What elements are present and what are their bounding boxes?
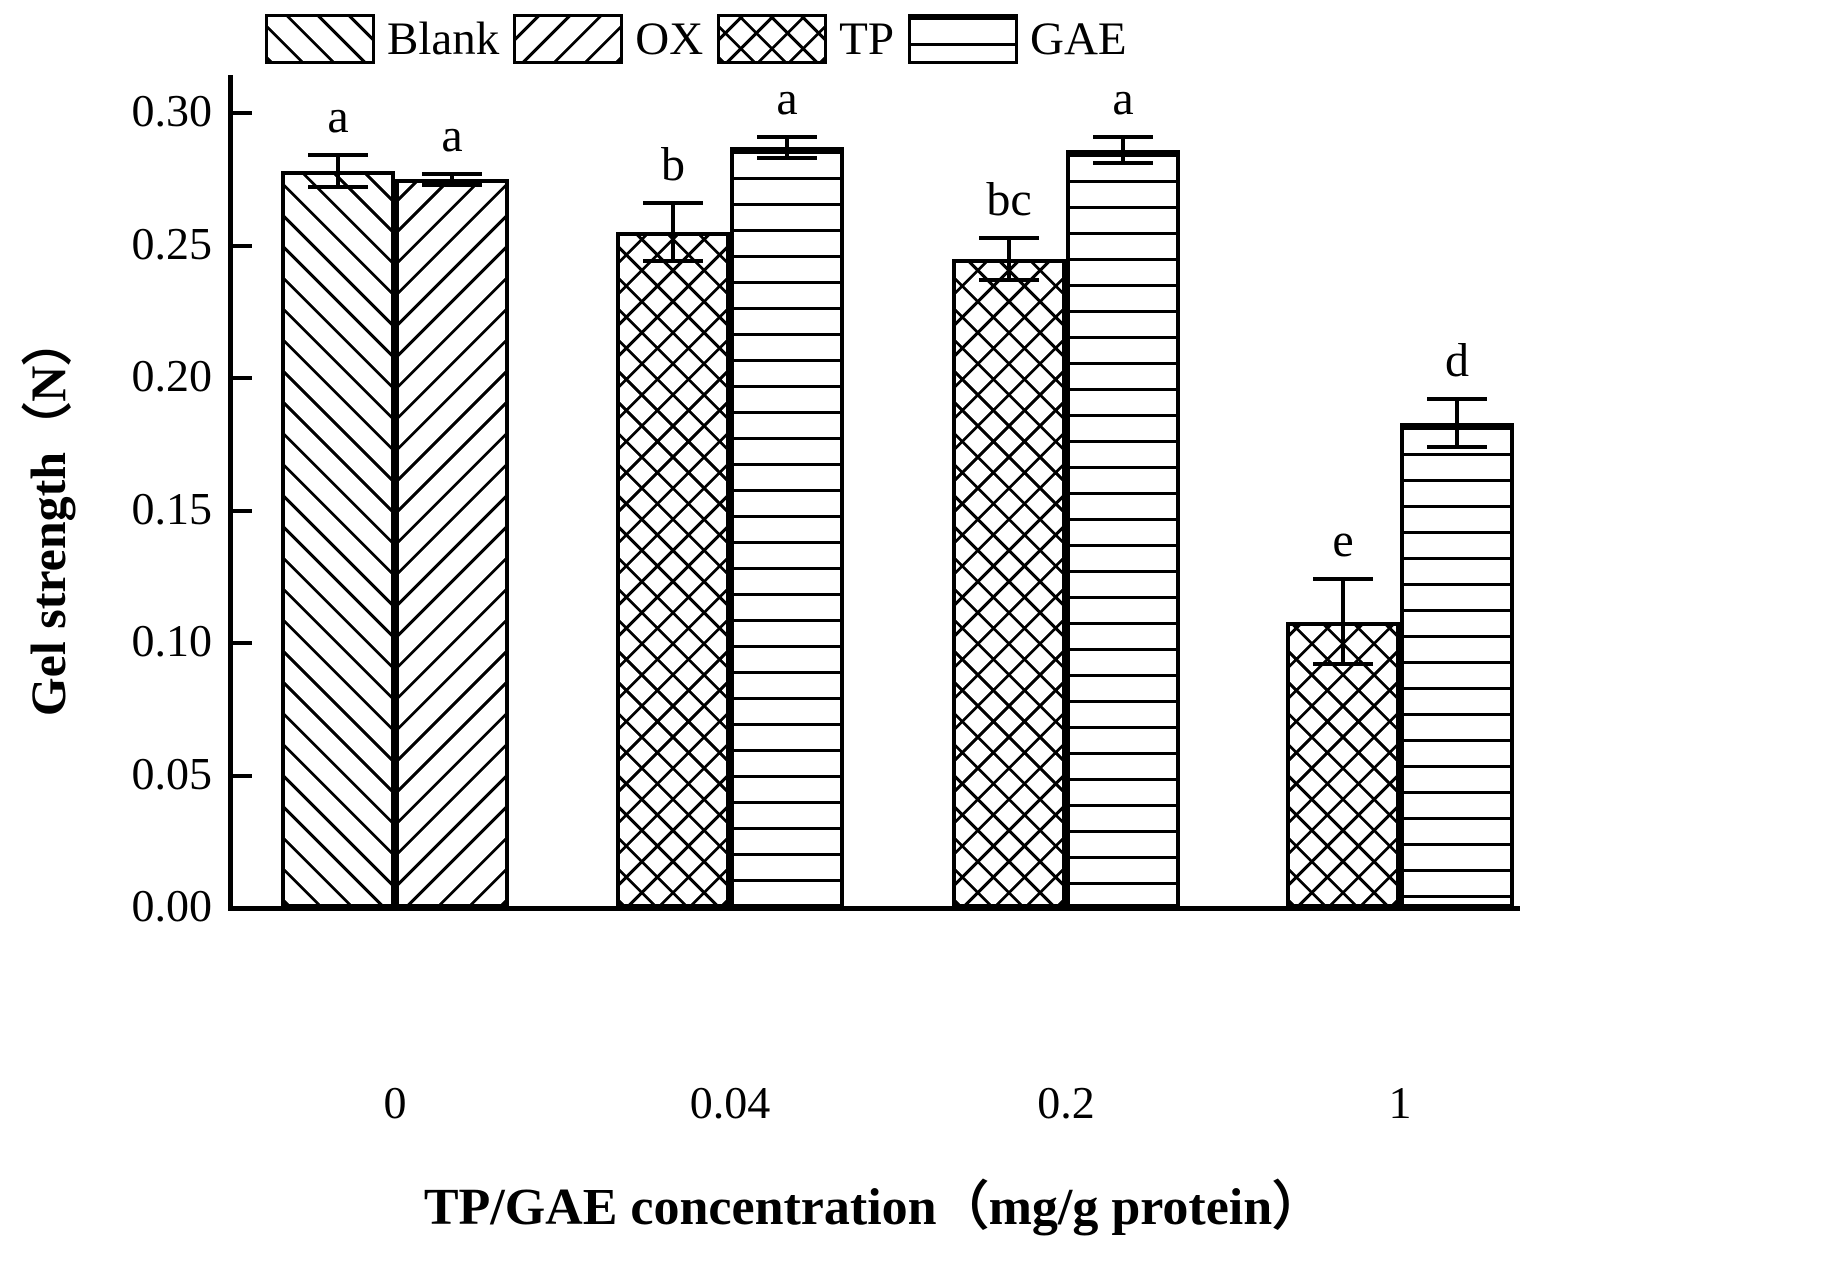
significance-letter: a xyxy=(327,93,348,141)
y-axis-tick-label: 0.25 xyxy=(132,221,213,267)
y-axis-tick-label: 0.15 xyxy=(132,486,213,532)
significance-letter: e xyxy=(1332,517,1353,565)
x-axis-tick-label: 0.2 xyxy=(1037,1080,1095,1126)
legend-swatch-ox-icon xyxy=(513,14,623,64)
error-bar-stem xyxy=(671,203,675,261)
y-axis-tick-label: 0.20 xyxy=(132,353,213,399)
y-axis-tick-label: 0.10 xyxy=(132,618,213,664)
error-bar-stem xyxy=(1341,579,1345,664)
bar-tp-0.04 xyxy=(616,232,730,908)
error-bar-cap xyxy=(979,278,1039,282)
x-axis-tick-label: 1 xyxy=(1389,1080,1412,1126)
y-axis-tick-label: 0.00 xyxy=(132,883,213,929)
error-bar-cap xyxy=(422,183,482,187)
bar-gae-1 xyxy=(1400,423,1514,908)
significance-letter: a xyxy=(441,112,462,160)
bar-blank-0 xyxy=(281,171,395,908)
error-bar-cap xyxy=(643,201,703,205)
error-bar-cap xyxy=(757,156,817,160)
bar-gae-0.04 xyxy=(730,147,844,908)
error-bar-stem xyxy=(336,155,340,187)
error-bar-cap xyxy=(979,236,1039,240)
y-axis-title: Gel strength（N） xyxy=(8,186,80,846)
error-bar-cap xyxy=(1093,135,1153,139)
legend-item-ox: OX xyxy=(513,14,717,64)
error-bar-stem xyxy=(1007,238,1011,280)
y-axis-tick-label: 0.05 xyxy=(132,751,213,797)
bar-ox-0 xyxy=(395,179,509,908)
error-bar-stem xyxy=(1455,399,1459,447)
error-bar-cap xyxy=(1093,161,1153,165)
legend-swatch-blank-icon xyxy=(265,14,375,64)
error-bar-cap xyxy=(1313,577,1373,581)
error-bar-cap xyxy=(757,135,817,139)
legend-label-ox: OX xyxy=(623,16,717,63)
legend-swatch-gae-icon xyxy=(908,14,1018,64)
significance-letter: a xyxy=(1112,75,1133,123)
error-bar-cap xyxy=(1427,445,1487,449)
error-bar-cap xyxy=(643,259,703,263)
error-bar-cap xyxy=(422,172,482,176)
legend-swatch-tp-icon xyxy=(717,14,827,64)
error-bar-stem xyxy=(785,137,789,158)
chart-legend: Blank OX TP GAE xyxy=(265,14,1141,64)
legend-item-tp: TP xyxy=(717,14,908,64)
x-axis-tick-label: 0 xyxy=(384,1080,407,1126)
bar-tp-0.2 xyxy=(952,259,1066,908)
error-bar-cap xyxy=(308,153,368,157)
error-bar-cap xyxy=(1313,662,1373,666)
legend-item-gae: GAE xyxy=(908,14,1141,64)
error-bar-cap xyxy=(1427,397,1487,401)
x-axis-tick-label: 0.04 xyxy=(690,1080,771,1126)
significance-letter: a xyxy=(776,75,797,123)
significance-letter: bc xyxy=(986,176,1031,224)
chart-canvas: Blank OX TP GAE 0.300.250.200.150.100.05… xyxy=(0,0,1839,1262)
error-bar-stem xyxy=(1121,137,1125,164)
significance-letter: b xyxy=(661,141,685,189)
legend-label-tp: TP xyxy=(827,16,908,63)
error-bar-cap xyxy=(308,185,368,189)
x-axis-title: TP/GAE concentration（mg/g protein） xyxy=(228,1164,1520,1239)
y-axis-tick-label: 0.30 xyxy=(132,88,213,134)
legend-item-blank: Blank xyxy=(265,14,513,64)
legend-label-gae: GAE xyxy=(1018,16,1141,63)
significance-letter: d xyxy=(1445,337,1469,385)
legend-label-blank: Blank xyxy=(375,16,513,63)
bar-gae-0.2 xyxy=(1066,150,1180,908)
